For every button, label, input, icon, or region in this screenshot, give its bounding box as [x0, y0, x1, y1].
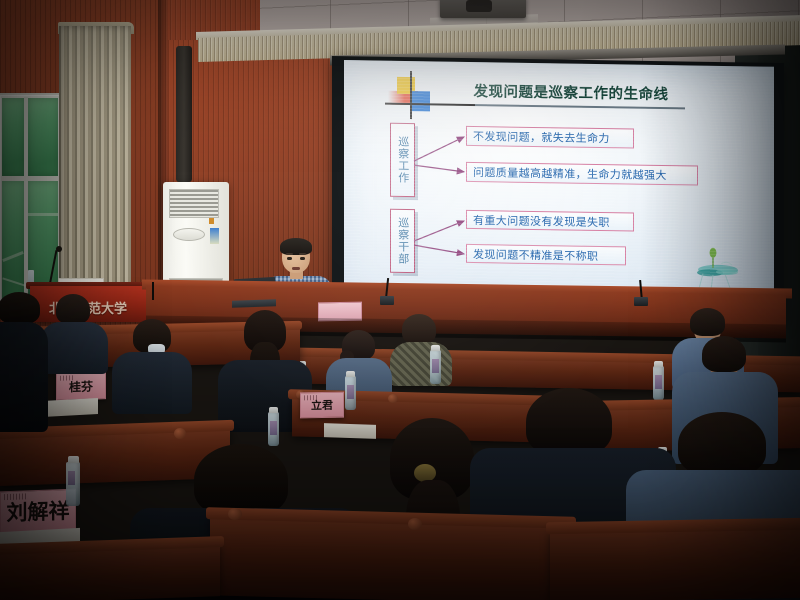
slide-statement-box: 问题质量越高越精准，生命力就越强大: [466, 162, 698, 186]
water-bottle: [345, 376, 356, 410]
nameplate-logo: [60, 375, 75, 381]
bench-knob: [228, 508, 242, 520]
attendee-figure: [118, 320, 188, 410]
desk-microphone-stalk: [152, 282, 154, 300]
presenter-eyebrow: [286, 253, 293, 255]
water-bottle: [430, 350, 441, 384]
bottle-cap: [346, 371, 355, 377]
slide-statement-box: 不发现问题，就失去生命力: [466, 126, 634, 149]
attendee-figure: [44, 296, 106, 370]
nameplate: 刘解祥: [0, 489, 76, 534]
desk-microphone-base: [380, 296, 394, 305]
attendee-hair: [678, 412, 766, 476]
slide-statement-text: 问题质量越高越精准，生命力就越强大: [473, 164, 667, 183]
ceiling-projector: [440, 0, 526, 18]
presenter-hair: [280, 238, 312, 255]
water-bottle: [66, 462, 80, 506]
nameplate-logo: [304, 395, 319, 400]
slide-title: 发现问题是巡察工作的生命线: [406, 79, 736, 105]
attendee-figure-foreground: [0, 296, 50, 426]
attendee-torso: [390, 342, 452, 386]
slide-statement-text: 有重大问题没有发现是失职: [473, 212, 610, 230]
attendee-figure: [392, 316, 450, 380]
bottle-cap: [269, 407, 278, 413]
attendee-hair: [402, 314, 436, 344]
window-curtain: [59, 26, 131, 316]
attendee-torso: [112, 352, 192, 414]
ac-top-vent: [169, 189, 219, 218]
ac-energy-label: [210, 228, 219, 244]
attendee-hair: [194, 444, 288, 516]
attendee-hair: [690, 308, 725, 336]
slide-statement-box: 有重大问题没有发现是失职: [466, 210, 634, 232]
window-scaffold: [28, 213, 58, 216]
attendee-hair: [0, 292, 40, 324]
window-mullion: [1, 176, 59, 181]
slide-group-label: 巡察工作: [396, 136, 409, 184]
lotus-graphic-icon: [689, 243, 747, 292]
presenter-eye: [300, 257, 305, 260]
attendee-hair: [702, 336, 746, 372]
bench-row-front-right: [550, 526, 800, 600]
bench-row-front-center: [210, 515, 570, 600]
ac-brand-logo: [173, 228, 205, 241]
bench-knob: [388, 394, 398, 403]
slide-connector-arrows: [412, 121, 470, 272]
bench-knob: [174, 428, 186, 439]
ac-indicator: [209, 218, 214, 224]
nameplate: 立君: [300, 392, 344, 419]
attendee-hair: [56, 294, 90, 324]
window-pane: [2, 98, 24, 176]
slide-group-label: 巡察干部: [396, 217, 409, 265]
slide-statement-text: 发现问题不精准是不称职: [473, 246, 598, 264]
lecture-hall-photo: 发现问题是巡察工作的生命线 巡察工作 巡察干部 不发现问题，就失去生命力 问题质…: [0, 0, 800, 600]
presenter-eye: [287, 257, 292, 260]
nameplate-logo: [4, 493, 26, 500]
projector-lens: [466, 0, 492, 12]
presenter-mouth: [292, 267, 300, 270]
attendee-torso: [40, 322, 108, 374]
wall-duct: [176, 46, 192, 182]
attendee-hair: [526, 388, 612, 456]
slide-statement-text: 不发现问题，就失去生命力: [473, 128, 610, 146]
bench-knob: [408, 518, 422, 530]
bottle-cap: [68, 456, 79, 463]
slide-statement-box: 发现问题不精准是不称职: [466, 244, 626, 266]
desk-microphone-base: [634, 297, 648, 306]
presenter-eyebrow: [299, 253, 306, 255]
projection-screen: 发现问题是巡察工作的生命线 巡察工作 巡察干部 不发现问题，就失去生命力 问题质…: [344, 60, 774, 307]
nameplate: 桂芬: [56, 371, 106, 401]
attendee-torso: [0, 322, 48, 432]
bottle-cap: [654, 361, 663, 367]
window-pane: [28, 98, 58, 176]
bottle-cap: [431, 345, 440, 351]
